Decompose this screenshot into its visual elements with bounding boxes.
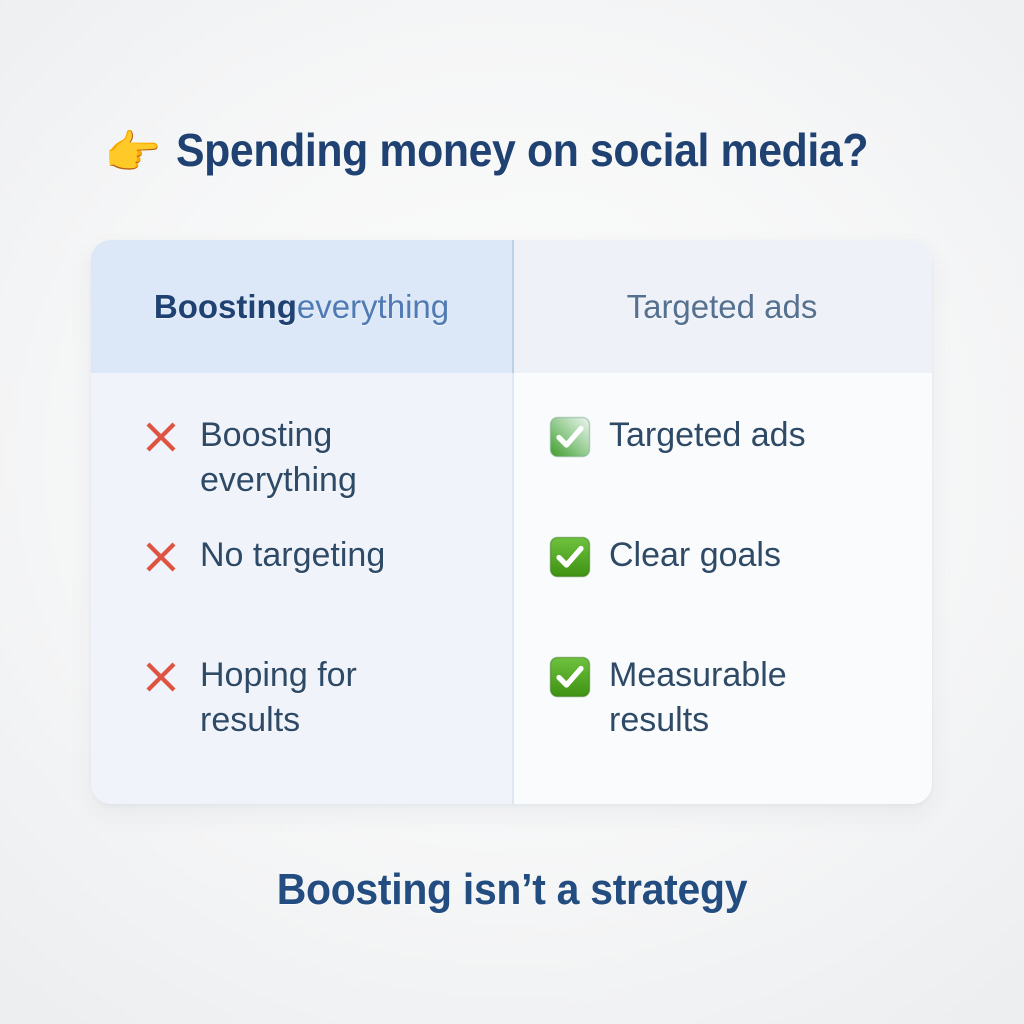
list-item: Hoping for results [91,653,512,773]
list-item-label: Targeted ads [609,413,806,458]
cross-mark-icon [139,535,183,579]
comparison-column-targeted: Targeted ads [512,240,932,804]
footer-caption-text: Boosting isn’t a strategy [277,865,748,915]
list-item-label: Boosting everything [200,413,450,502]
footer-caption: Boosting isn’t a strategy [0,857,1024,923]
comparison-column-boosting: Boosting everything Boosting everything [91,240,512,804]
column-header-targeted: Targeted ads [512,240,932,373]
list-item: Targeted ads [512,413,932,533]
list-item: Clear goals [512,533,932,653]
list-item-label: Measurable results [609,653,869,742]
check-box-icon [548,535,592,579]
infographic-page: 👉 Spending money on social media? Boosti… [0,0,1024,1024]
list-item-label: No targeting [200,533,385,578]
pointing-right-finger-icon: 👉 [104,129,161,175]
list-item: Boosting everything [91,413,512,533]
list-item: No targeting [91,533,512,653]
comparison-card: Boosting everything Boosting everything [91,240,932,804]
column-header-boosting-strong: Boosting [154,288,297,326]
check-box-faded-icon [548,415,592,459]
column-body-boosting: Boosting everything No targeting [91,373,512,804]
column-body-targeted: Targeted ads [512,373,932,804]
list-item-label: Clear goals [609,533,781,578]
column-header-boosting: Boosting everything [91,240,512,373]
page-title: 👉 Spending money on social media? [0,113,1024,187]
column-divider [512,240,514,804]
list-item-label: Hoping for results [200,653,450,742]
column-header-boosting-light: everything [297,288,449,326]
cross-mark-icon [139,415,183,459]
check-box-icon [548,655,592,699]
column-header-targeted-text: Targeted ads [627,288,818,326]
cross-mark-icon [139,655,183,699]
page-title-text: Spending money on social media? [176,123,868,177]
list-item: Measurable results [512,653,932,773]
